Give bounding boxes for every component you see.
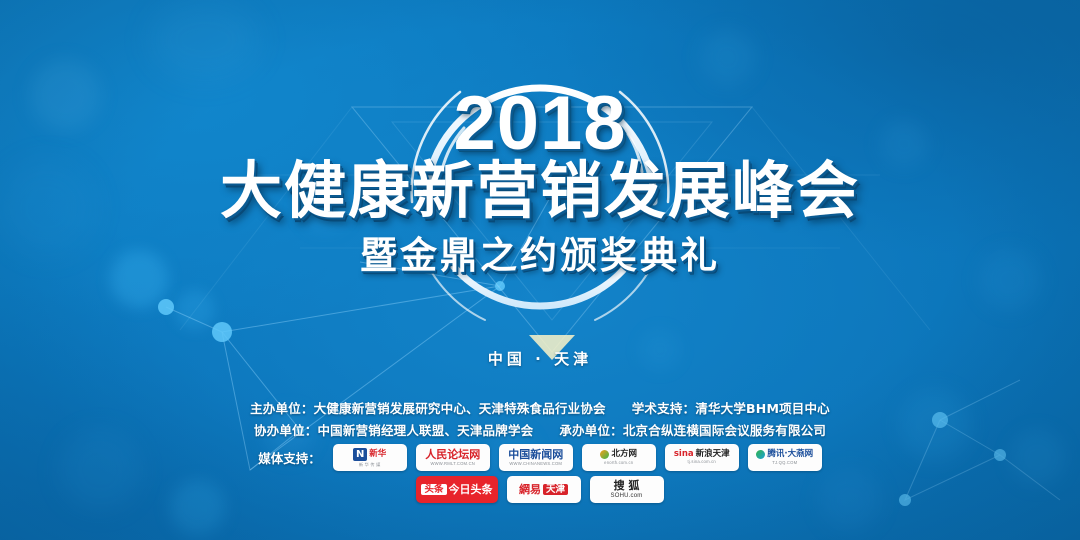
media-logo-name: 北方网 xyxy=(611,450,637,459)
media-logo-sub: WWW.RMLT.COM.CN xyxy=(430,462,475,466)
sina-wordmark: sina xyxy=(674,450,694,459)
media-logo-name: 今日头条 xyxy=(449,484,493,495)
media-logo-toutiao[interactable]: 头条 今日头条 xyxy=(416,476,497,503)
media-logo-sub: SOHU.com xyxy=(611,493,643,499)
media-logo-sub: 新 华 传 媒 xyxy=(359,463,381,467)
media-logo-name: 網易 xyxy=(519,484,541,495)
enorth-mark-icon xyxy=(600,450,609,459)
media-logo-name: 新浪天津 xyxy=(696,450,730,459)
event-year: 2018 xyxy=(453,86,626,162)
credit-row-2: 协办单位： 中国新营销经理人联盟、天津品牌学会 承办单位： 北京合纵连横国际会议… xyxy=(254,420,826,442)
event-sub-title: 暨金鼎之约颁奖典礼 xyxy=(360,236,720,276)
co-organizer-label: 协办单位： xyxy=(254,420,318,442)
event-main-title: 大健康新营销发展峰会 xyxy=(220,158,860,224)
media-logo-chinanews[interactable]: 中国新闻网 WWW.CHINANEWS.COM xyxy=(499,444,573,471)
academic-support-label: 学术支持： xyxy=(632,398,696,420)
media-logo-netease-tianjin[interactable]: 網易 天津 xyxy=(507,476,581,503)
media-logo-sohu[interactable]: 搜 狐 SOHU.com xyxy=(590,476,664,503)
toutiao-chip: 头条 xyxy=(421,484,446,496)
media-logo-sub: TJ.QQ.COM xyxy=(772,461,797,465)
media-support-label: 媒体支持： xyxy=(258,448,321,467)
media-logo-row-2: 头条 今日头条 網易 天津 搜 狐 SOHU.com xyxy=(416,476,663,503)
credits-block: 主办单位： 大健康新营销发展研究中心、天津特殊食品行业协会 学术支持： 清华大学… xyxy=(0,398,1080,442)
media-logo-name: 搜 狐 xyxy=(614,480,640,491)
co-organizer-value: 中国新营销经理人联盟、天津品牌学会 xyxy=(317,420,533,442)
media-logo-name: 中国新闻网 xyxy=(508,449,563,460)
host-value: 大健康新营销发展研究中心、天津特殊食品行业协会 xyxy=(314,398,606,420)
media-logo-name: 腾讯·大燕网 xyxy=(767,450,813,459)
tencent-mark-icon xyxy=(756,450,765,459)
media-logo-sub: tj.sina.com.cn xyxy=(688,460,716,464)
xinhua-n-badge: N xyxy=(353,448,367,461)
netease-chip: 天津 xyxy=(543,484,568,496)
undertaker-label: 承办单位： xyxy=(559,420,623,442)
media-logo-name: 新华 xyxy=(369,450,386,459)
media-support-block: 媒体支持： N 新华 新 华 传 媒 人民论坛网 WWW.RMLT.COM.CN xyxy=(0,444,1080,503)
media-logo-people-cn[interactable]: 人民论坛网 WWW.RMLT.COM.CN xyxy=(416,444,490,471)
media-logo-sina-tianjin[interactable]: sina 新浪天津 tj.sina.com.cn xyxy=(665,444,739,471)
undertaker-value: 北京合纵连横国际会议服务有限公司 xyxy=(623,420,826,442)
media-logo-row-1: 媒体支持： N 新华 新 华 传 媒 人民论坛网 WWW.RMLT.COM.CN xyxy=(258,444,822,471)
media-logo-enorth[interactable]: 北方网 enorth.com.cn xyxy=(582,444,656,471)
event-poster: 2018 大健康新营销发展峰会 暨金鼎之约颁奖典礼 中国 · 天津 主办单位： … xyxy=(0,0,1080,540)
event-location: 中国 · 天津 xyxy=(488,348,592,369)
credit-row-1: 主办单位： 大健康新营销发展研究中心、天津特殊食品行业协会 学术支持： 清华大学… xyxy=(250,398,830,420)
media-logo-sub: WWW.CHINANEWS.COM xyxy=(509,462,562,466)
media-logo-sub: enorth.com.cn xyxy=(604,461,633,465)
media-logo-name: 人民论坛网 xyxy=(425,449,480,460)
media-logo-tencent-dayu[interactable]: 腾讯·大燕网 TJ.QQ.COM xyxy=(748,444,822,471)
host-label: 主办单位： xyxy=(250,398,314,420)
media-logo-xinhua-news[interactable]: N 新华 新 华 传 媒 xyxy=(333,444,407,471)
poster-center-block: 2018 大健康新营销发展峰会 暨金鼎之约颁奖典礼 中国 · 天津 xyxy=(0,0,1080,400)
academic-support-value: 清华大学BHM项目中心 xyxy=(695,398,830,420)
